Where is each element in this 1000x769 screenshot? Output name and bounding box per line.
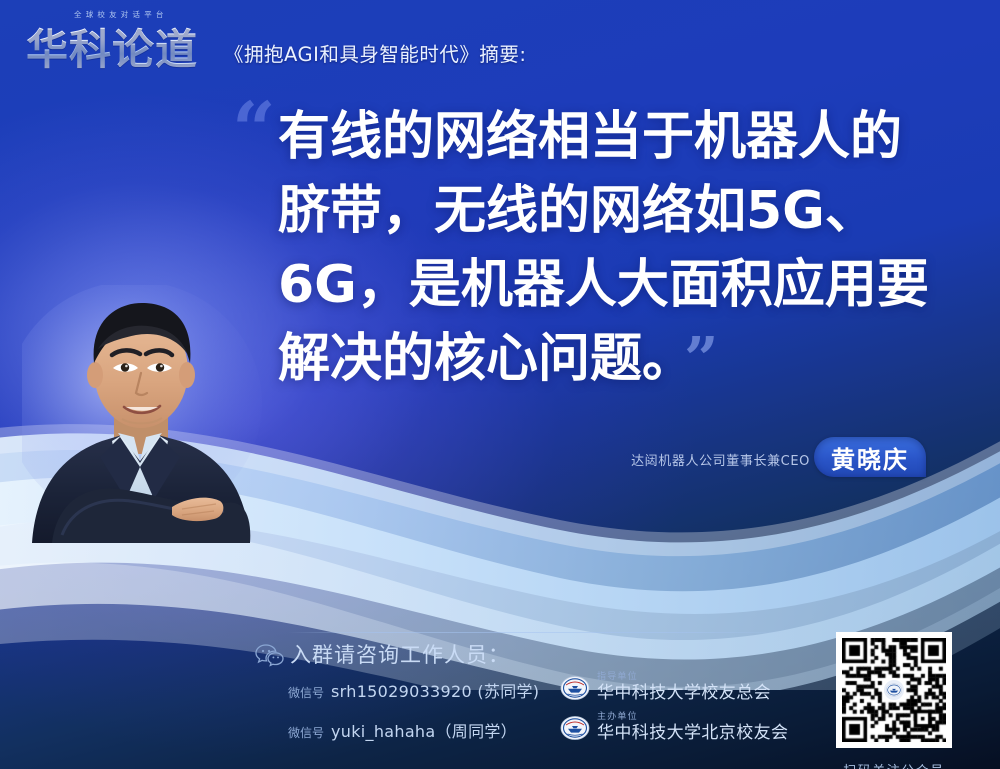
organization-row: 指导单位 华中科技大学校友总会 (560, 672, 771, 703)
contact-label: 微信号 (288, 684, 324, 701)
poster-canvas: 全球校友对话平台 华科论道 《拥抱AGI和具身智能时代》摘要: “ 有线的网络相… (0, 0, 1000, 769)
quote-line: 6G，是机器人大面积应用要 (278, 248, 958, 322)
quote-open-mark: “ (232, 92, 272, 168)
page-title: 《拥抱AGI和具身智能时代》摘要: (224, 38, 526, 67)
university-seal-icon (560, 673, 590, 703)
quote-line: 解决的核心问题。 (278, 322, 958, 396)
quote-line: 有线的网络相当于机器人的 (278, 100, 958, 174)
speaker-name-badge: 黄晓庆 (814, 437, 926, 477)
contact-value[interactable]: yuki_hahaha（周同学） (331, 718, 517, 742)
qr-center-logo (882, 678, 906, 702)
qr-caption: 扫码关注公众号 (836, 760, 952, 769)
contact-row: 微信号 srh15029033920 (苏同学) (288, 678, 539, 702)
qr-code[interactable] (836, 632, 952, 748)
brand-logo[interactable]: 全球校友对话平台 华科论道 (26, 6, 222, 68)
wechat-icon (255, 643, 285, 667)
organization-kind: 主办单位 (597, 712, 788, 723)
speaker-portrait (22, 285, 282, 560)
university-seal-icon (560, 713, 590, 743)
contact-value[interactable]: srh15029033920 (苏同学) (331, 678, 539, 702)
organization-kind: 指导单位 (597, 672, 771, 683)
brand-logo-text: 华科论道 (26, 16, 198, 77)
qr-section: 扫码关注公众号 (836, 632, 952, 769)
footer-divider (288, 632, 788, 633)
quote-line: 脐带，无线的网络如5G、 (278, 174, 958, 248)
quote-text: 有线的网络相当于机器人的 脐带，无线的网络如5G、 6G，是机器人大面积应用要 … (278, 100, 958, 396)
organization-text: 指导单位 华中科技大学校友总会 (597, 672, 771, 703)
organization-text: 主办单位 华中科技大学北京校友会 (597, 712, 788, 743)
header: 全球校友对话平台 华科论道 《拥抱AGI和具身智能时代》摘要: (0, 0, 1000, 88)
contact-row: 微信号 yuki_hahaha（周同学） (288, 718, 517, 742)
organization-row: 主办单位 华中科技大学北京校友会 (560, 712, 788, 743)
join-group-title: 入群请咨询工作人员： (290, 639, 510, 669)
organization-name: 华中科技大学北京校友会 (597, 723, 788, 743)
speaker-name: 黄晓庆 (831, 440, 909, 475)
organization-name: 华中科技大学校友总会 (597, 683, 771, 703)
quote-close-mark: ” (684, 330, 716, 390)
speaker-role: 达闼机器人公司董事长兼CEO (631, 450, 810, 469)
contact-label: 微信号 (288, 724, 324, 741)
